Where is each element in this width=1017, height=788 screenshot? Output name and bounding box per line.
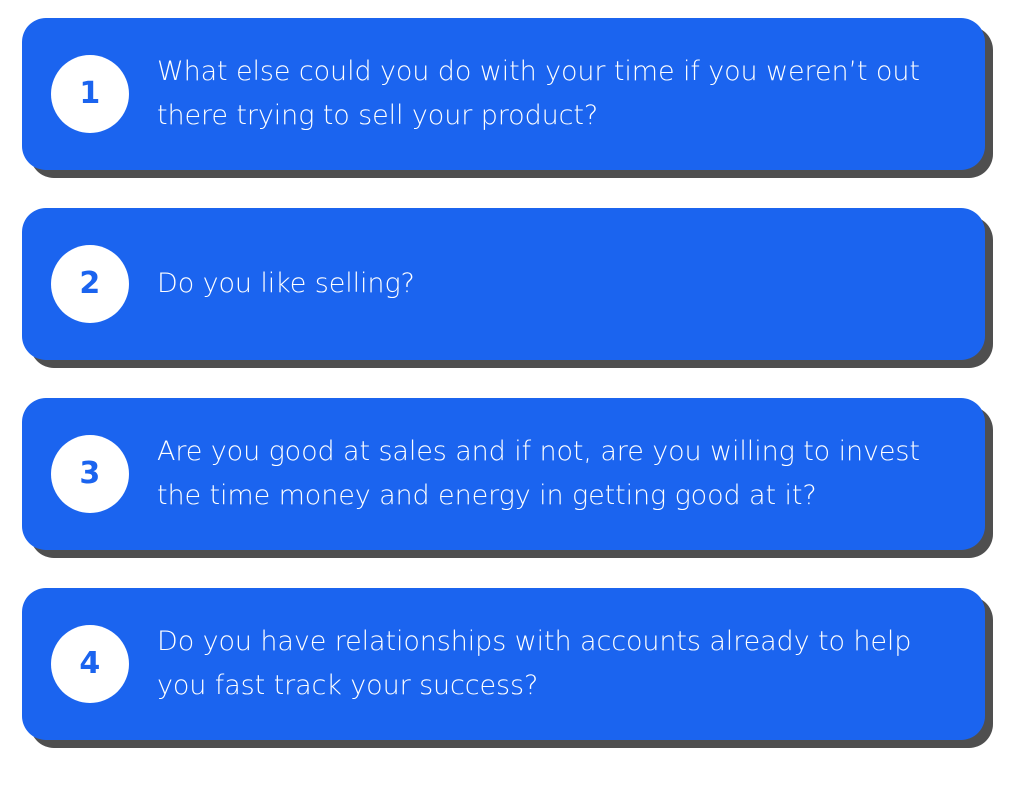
question-number-label: 3: [79, 459, 100, 489]
question-number-label: 2: [79, 269, 100, 299]
question-number-badge: 4: [51, 625, 129, 703]
question-text: What else could you do with your time if…: [157, 50, 985, 138]
question-text: Are you good at sales and if not, are yo…: [157, 430, 985, 518]
question-card-4[interactable]: 4 Do you have relationships with account…: [22, 588, 985, 740]
question-text: Do you like selling?: [157, 262, 985, 306]
question-number-badge: 1: [51, 55, 129, 133]
question-number-label: 4: [79, 649, 100, 679]
question-card-2[interactable]: 2 Do you like selling?: [22, 208, 985, 360]
question-number-badge: 2: [51, 245, 129, 323]
question-card-list: 1 What else could you do with your time …: [0, 0, 1017, 788]
question-number-label: 1: [79, 79, 100, 109]
question-card-3[interactable]: 3 Are you good at sales and if not, are …: [22, 398, 985, 550]
question-card-1[interactable]: 1 What else could you do with your time …: [22, 18, 985, 170]
question-number-badge: 3: [51, 435, 129, 513]
question-text: Do you have relationships with accounts …: [157, 620, 985, 708]
